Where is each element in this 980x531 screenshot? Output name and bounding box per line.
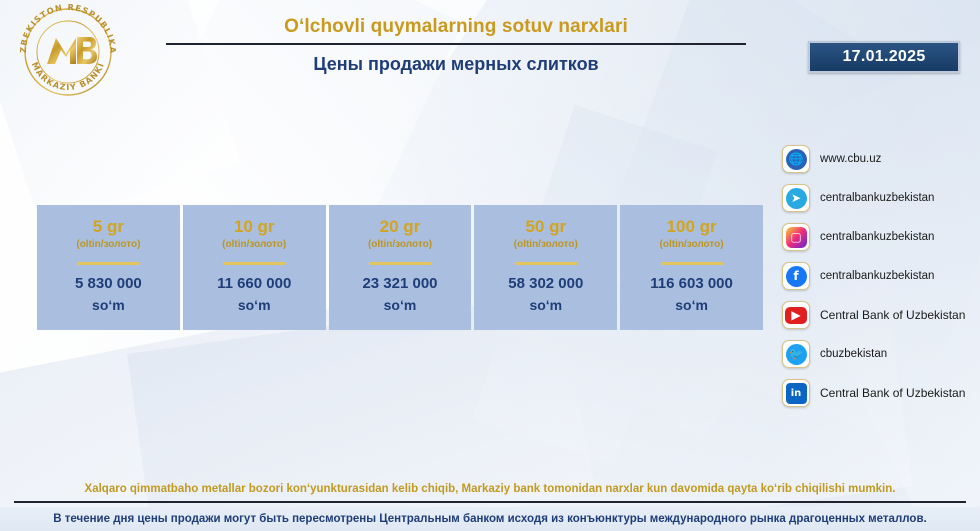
- social-link-telegram[interactable]: ➤ centralbankuzbekistan: [782, 179, 978, 217]
- svg-text:O‘ZBEKISTON RESPUBLIKASI: O‘ZBEKISTON RESPUBLIKASI: [14, 2, 118, 54]
- card-price: 58 302 000: [508, 274, 583, 294]
- footer-note-uz: Xalqaro qimmatbaho metallar bozori kon‘y…: [0, 481, 980, 497]
- social-label: www.cbu.uz: [820, 152, 881, 166]
- price-card: 20 gr (oltin/золото) 23 321 000 so‘m: [329, 205, 472, 330]
- twitter-icon: 🐦: [782, 340, 810, 368]
- title-block: O‘lchovli quymalarning sotuv narxlari Це…: [150, 14, 762, 77]
- card-weight: 100 gr: [667, 217, 717, 237]
- card-price: 5 830 000: [75, 274, 142, 294]
- card-price: 116 603 000: [650, 274, 733, 294]
- card-price: 23 321 000: [362, 274, 437, 294]
- card-metal: (oltin/золото): [660, 238, 724, 252]
- social-link-twitter[interactable]: 🐦 cbuzbekistan: [782, 335, 978, 373]
- social-link-instagram[interactable]: ▢ centralbankuzbekistan: [782, 218, 978, 256]
- page-title-ru: Цены продажи мерных слитков: [150, 51, 762, 77]
- svg-text:MARKAZIY BANKI: MARKAZIY BANKI: [30, 60, 106, 92]
- price-card: 10 gr (oltin/золото) 11 660 000 so‘m: [183, 205, 326, 330]
- title-divider: [166, 43, 746, 45]
- youtube-icon: ▶: [782, 301, 810, 329]
- card-metal: (oltin/золото): [368, 238, 432, 252]
- social-label: Central Bank of Uzbekistan: [820, 308, 965, 322]
- card-currency: so‘m: [92, 296, 125, 315]
- telegram-icon: ➤: [782, 184, 810, 212]
- social-link-linkedin[interactable]: in Central Bank of Uzbekistan: [782, 374, 978, 412]
- card-currency: so‘m: [675, 296, 708, 315]
- globe-icon: 🌐: [782, 145, 810, 173]
- price-card: 100 gr (oltin/золото) 116 603 000 so‘m: [620, 205, 763, 330]
- footer-note-ru: В течение дня цены продажи могут быть пе…: [0, 507, 980, 531]
- card-metal: (oltin/золото): [514, 238, 578, 252]
- central-bank-logo-icon: O‘ZBEKISTON RESPUBLIKASI MARKAZIY BANKI: [14, 2, 122, 98]
- card-weight: 50 gr: [525, 217, 566, 237]
- card-weight: 10 gr: [234, 217, 275, 237]
- card-divider: [661, 262, 723, 265]
- card-weight: 5 gr: [93, 217, 124, 237]
- card-currency: so‘m: [529, 296, 562, 315]
- card-divider: [77, 262, 139, 265]
- card-divider: [223, 262, 285, 265]
- card-divider: [369, 262, 431, 265]
- social-label: centralbankuzbekistan: [820, 191, 934, 205]
- facebook-icon: f: [782, 262, 810, 290]
- card-currency: so‘m: [238, 296, 271, 315]
- social-label: Central Bank of Uzbekistan: [820, 386, 965, 400]
- linkedin-icon: in: [782, 379, 810, 407]
- social-label: centralbankuzbekistan: [820, 230, 934, 244]
- date-badge: 17.01.2025: [808, 41, 960, 73]
- social-links-list: 🌐 www.cbu.uz ➤ centralbankuzbekistan ▢ c…: [782, 140, 978, 413]
- social-link-youtube[interactable]: ▶ Central Bank of Uzbekistan: [782, 296, 978, 334]
- social-link-website[interactable]: 🌐 www.cbu.uz: [782, 140, 978, 178]
- instagram-icon: ▢: [782, 223, 810, 251]
- card-metal: (oltin/золото): [222, 238, 286, 252]
- card-currency: so‘m: [384, 296, 417, 315]
- price-cards-row: 5 gr (oltin/золото) 5 830 000 so‘m 10 gr…: [37, 205, 763, 330]
- footer-divider: [14, 501, 966, 503]
- card-divider: [515, 262, 577, 265]
- social-link-facebook[interactable]: f centralbankuzbekistan: [782, 257, 978, 295]
- card-weight: 20 gr: [380, 217, 421, 237]
- social-label: centralbankuzbekistan: [820, 269, 934, 283]
- price-card: 50 gr (oltin/золото) 58 302 000 so‘m: [474, 205, 617, 330]
- card-metal: (oltin/золото): [76, 238, 140, 252]
- price-card: 5 gr (oltin/золото) 5 830 000 so‘m: [37, 205, 180, 330]
- page-title-uz: O‘lchovli quymalarning sotuv narxlari: [150, 14, 762, 40]
- social-label: cbuzbekistan: [820, 347, 887, 361]
- card-price: 11 660 000: [217, 274, 291, 294]
